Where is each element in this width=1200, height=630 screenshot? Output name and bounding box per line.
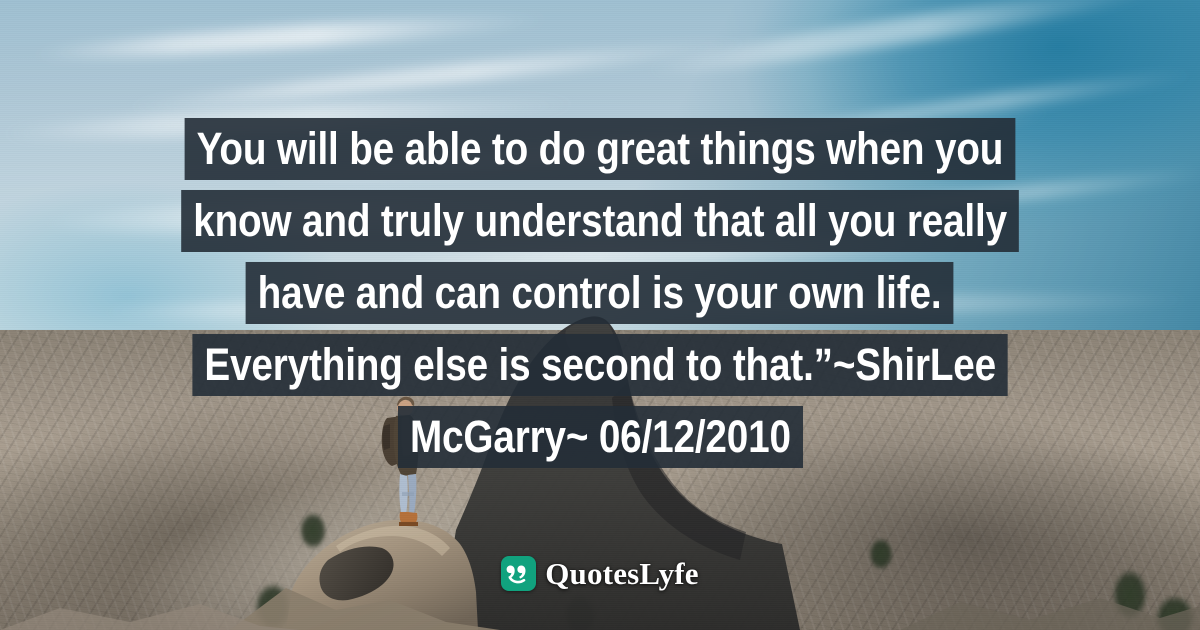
quote-line: McGarry~ 06/12/2010 xyxy=(0,406,1200,468)
quote-line: know and truly understand that all you r… xyxy=(0,190,1200,252)
quote-line-text: know and truly understand that all you r… xyxy=(181,190,1019,252)
cloud-streak xyxy=(30,8,550,66)
quote-card: You will be able to do great things when… xyxy=(0,0,1200,630)
quote-line-text: Everything else is second to that.”~Shir… xyxy=(192,334,1008,396)
quote-line: have and can control is your own life. xyxy=(0,262,1200,324)
quote-marks-icon xyxy=(501,556,536,591)
quote-line-text: have and can control is your own life. xyxy=(246,262,954,324)
quote-line: Everything else is second to that.”~Shir… xyxy=(0,334,1200,396)
quote-text-block: You will be able to do great things when… xyxy=(0,118,1200,478)
quoteslyfe-logo[interactable]: QuotesLyfe xyxy=(0,556,1200,591)
quote-line: You will be able to do great things when… xyxy=(0,118,1200,180)
quote-line-text: You will be able to do great things when… xyxy=(185,118,1016,180)
quote-line-text: McGarry~ 06/12/2010 xyxy=(398,406,803,468)
logo-wordmark: QuotesLyfe xyxy=(545,556,699,591)
